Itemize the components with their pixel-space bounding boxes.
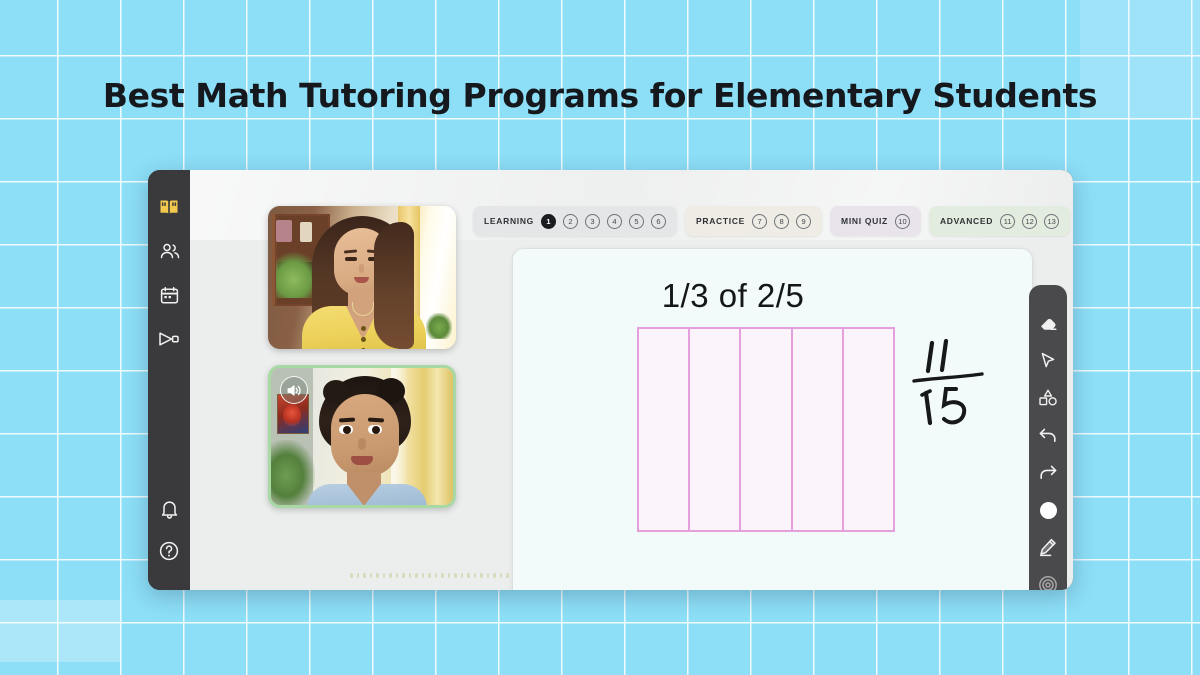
undo-icon[interactable] — [1037, 425, 1059, 445]
tutor-shirt-button — [361, 348, 366, 349]
cursor-icon[interactable] — [1037, 350, 1059, 370]
bell-icon[interactable] — [156, 496, 182, 522]
tutor-shelf-book — [276, 220, 292, 242]
student-video-tile[interactable] — [268, 365, 456, 508]
step-circle-10[interactable]: 10 — [895, 214, 910, 229]
student-video-scene — [271, 368, 453, 505]
student-poster-figure — [283, 404, 301, 426]
fraction-grid-column[interactable] — [690, 329, 741, 530]
video-tiles-column — [268, 206, 458, 508]
step-circle-12[interactable]: 12 — [1022, 214, 1037, 229]
record-icon[interactable] — [1037, 575, 1059, 590]
speaker-icon[interactable] — [280, 376, 308, 404]
step-group-mini-quiz[interactable]: MINI QUIZ 10 — [830, 206, 921, 236]
video-icon[interactable] — [156, 326, 182, 352]
step-group-label: MINI QUIZ — [841, 216, 888, 226]
tutor-shirt-button — [361, 337, 366, 342]
tutor-shelf-book — [300, 222, 312, 242]
book-icon[interactable] — [156, 194, 182, 220]
background-tile-highlight — [0, 600, 120, 662]
step-circle-5[interactable]: 5 — [629, 214, 644, 229]
fraction-model-grid[interactable] — [637, 327, 895, 532]
decorative-dot-row — [350, 571, 528, 579]
tutor-video-scene — [268, 206, 456, 349]
tutor-nose — [359, 264, 364, 273]
step-circle-2[interactable]: 2 — [563, 214, 578, 229]
whiteboard-canvas[interactable]: 1/3 of 2/5 — [512, 248, 1033, 590]
lesson-step-nav: LEARNING 1 2 3 4 5 6 PRACTICE 7 8 9 MINI… — [473, 206, 1070, 236]
step-circle-4[interactable]: 4 — [607, 214, 622, 229]
student-nose — [358, 438, 366, 450]
drawing-toolbar — [1029, 285, 1067, 590]
step-group-advanced[interactable]: ADVANCED 11 12 13 — [929, 206, 1070, 236]
step-circle-6[interactable]: 6 — [651, 214, 666, 229]
step-circle-1[interactable]: 1 — [541, 214, 556, 229]
step-group-learning[interactable]: LEARNING 1 2 3 4 5 6 — [473, 206, 677, 236]
step-circle-7[interactable]: 7 — [752, 214, 767, 229]
color-swatch[interactable] — [1040, 502, 1057, 519]
tutor-hair-strand — [374, 222, 414, 349]
tutor-shirt-button — [361, 326, 366, 331]
step-group-practice[interactable]: PRACTICE 7 8 9 — [685, 206, 822, 236]
problem-title: 1/3 of 2/5 — [513, 277, 953, 315]
fraction-grid-column[interactable] — [844, 329, 893, 530]
step-circle-13[interactable]: 13 — [1044, 214, 1059, 229]
student-mouth — [351, 456, 373, 465]
people-icon[interactable] — [156, 238, 182, 264]
tutor-plant — [426, 313, 452, 339]
redo-icon[interactable] — [1037, 463, 1059, 483]
step-circle-8[interactable]: 8 — [774, 214, 789, 229]
main-content-area: LEARNING 1 2 3 4 5 6 PRACTICE 7 8 9 MINI… — [190, 170, 1073, 590]
step-circle-3[interactable]: 3 — [585, 214, 600, 229]
step-circle-11[interactable]: 11 — [1000, 214, 1015, 229]
eraser-icon[interactable] — [1037, 313, 1059, 333]
fraction-grid-column[interactable] — [793, 329, 844, 530]
student-pupil — [343, 426, 351, 434]
step-circle-9[interactable]: 9 — [796, 214, 811, 229]
pencil-icon[interactable] — [1037, 537, 1059, 557]
step-group-label: ADVANCED — [940, 216, 993, 226]
step-group-label: LEARNING — [484, 216, 534, 226]
fraction-grid-column[interactable] — [741, 329, 792, 530]
handwritten-answer-fraction — [906, 337, 992, 427]
left-sidebar — [148, 170, 190, 590]
page-title: Best Math Tutoring Programs for Elementa… — [0, 76, 1200, 115]
tutor-eye — [345, 257, 357, 261]
student-pupil — [372, 426, 380, 434]
help-circle-icon[interactable] — [156, 538, 182, 564]
step-group-label: PRACTICE — [696, 216, 745, 226]
color-dot-icon[interactable] — [1037, 500, 1059, 520]
fraction-grid-column[interactable] — [639, 329, 690, 530]
tutor-video-tile[interactable] — [268, 206, 456, 349]
tutoring-app-window: LEARNING 1 2 3 4 5 6 PRACTICE 7 8 9 MINI… — [148, 170, 1073, 590]
shapes-icon[interactable] — [1037, 388, 1059, 408]
calendar-icon[interactable] — [156, 282, 182, 308]
